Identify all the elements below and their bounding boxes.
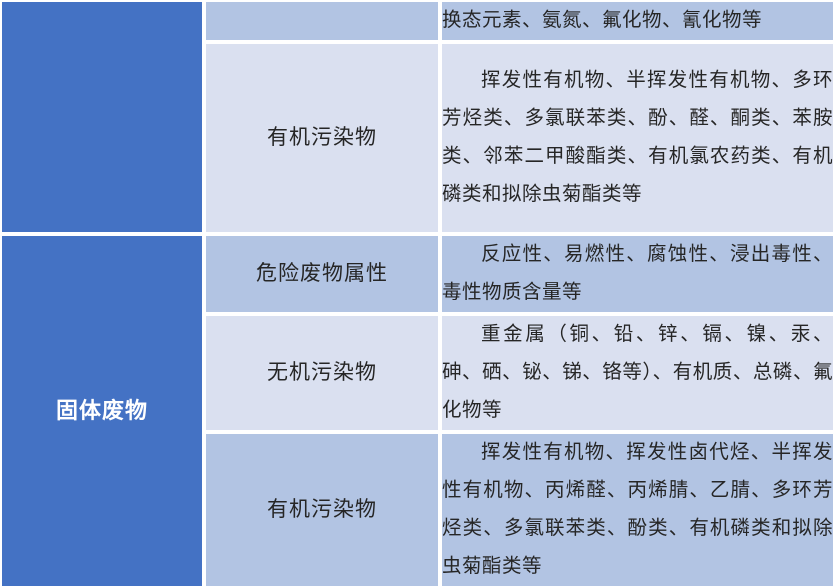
type-label: 有机污染物: [267, 497, 377, 521]
type-cell: 有机污染物: [204, 42, 440, 234]
table: 换态元素、氨氮、氟化物、氰化物等 有机污染物 挥发性有机物、半挥发性有机物、多环…: [0, 0, 835, 588]
type-label: 有机污染物: [267, 125, 377, 149]
table-row: 固体废物 危险废物属性 反应性、易燃性、腐蚀性、浸出毒性、毒性物质含量等: [0, 234, 835, 314]
detail-cell: 挥发性有机物、挥发性卤代烃、半挥发性有机物、丙烯醛、丙烯腈、乙腈、多环芳烃类、多…: [440, 432, 835, 588]
type-label: 无机污染物: [267, 360, 377, 384]
detail-text: 反应性、易燃性、腐蚀性、浸出毒性、毒性物质含量等: [442, 236, 833, 312]
detail-text: 挥发性有机物、挥发性卤代烃、半挥发性有机物、丙烯醛、丙烯腈、乙腈、多环芳烃类、多…: [442, 434, 833, 586]
type-cell: [204, 0, 440, 42]
category-cell-solid-waste: 固体废物: [0, 234, 204, 588]
detail-cell: 换态元素、氨氮、氟化物、氰化物等: [440, 0, 835, 42]
detail-cell: 挥发性有机物、半挥发性有机物、多环芳烃类、多氯联苯类、酚、醛、酮类、苯胺类、邻苯…: [440, 42, 835, 234]
type-cell: 无机污染物: [204, 314, 440, 432]
type-cell: 有机污染物: [204, 432, 440, 588]
table-body: 换态元素、氨氮、氟化物、氰化物等 有机污染物 挥发性有机物、半挥发性有机物、多环…: [0, 0, 835, 588]
detail-text: 挥发性有机物、半挥发性有机物、多环芳烃类、多氯联苯类、酚、醛、酮类、苯胺类、邻苯…: [442, 62, 833, 214]
type-cell: 危险废物属性: [204, 234, 440, 314]
category-cell-continued: [0, 0, 204, 234]
detail-text: 换态元素、氨氮、氟化物、氰化物等: [442, 2, 833, 40]
pollutant-indicator-table: 换态元素、氨氮、氟化物、氰化物等 有机污染物 挥发性有机物、半挥发性有机物、多环…: [0, 0, 835, 574]
detail-cell: 反应性、易燃性、腐蚀性、浸出毒性、毒性物质含量等: [440, 234, 835, 314]
type-label: 危险废物属性: [256, 261, 388, 285]
detail-text: 重金属（铜、铅、锌、镉、镍、汞、砷、硒、铋、锑、铬等）、有机质、总磷、氟化物等: [442, 316, 833, 430]
table-row: 换态元素、氨氮、氟化物、氰化物等: [0, 0, 835, 42]
category-label: 固体废物: [56, 398, 148, 423]
detail-cell: 重金属（铜、铅、锌、镉、镍、汞、砷、硒、铋、锑、铬等）、有机质、总磷、氟化物等: [440, 314, 835, 432]
